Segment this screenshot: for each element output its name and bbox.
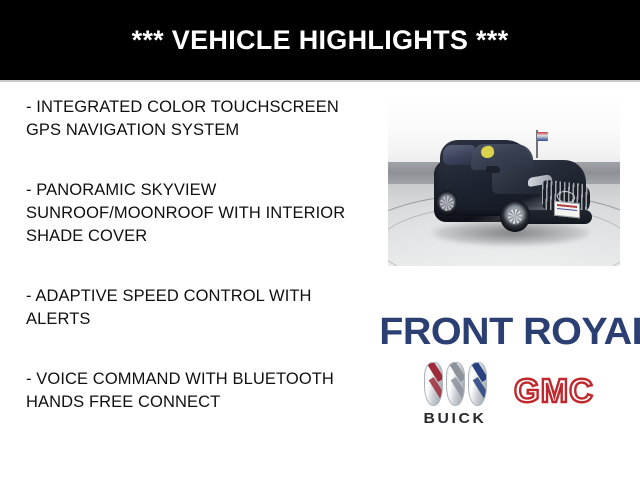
- header-divider: [0, 80, 640, 82]
- vehicle-rear-wheel: [436, 190, 458, 216]
- buick-logo: BUICK: [408, 362, 502, 427]
- header-band: *** VEHICLE HIGHLIGHTS ***: [0, 0, 640, 80]
- highlight-item: - VOICE COMMAND WITH BLUETOOTH HANDS FRE…: [26, 368, 366, 414]
- buick-trishield-icon: [408, 362, 502, 406]
- dealer-logo: FRONT ROYAL BUICK GMC: [384, 312, 624, 430]
- vehicle-front-wheel: [500, 200, 530, 232]
- buick-shield-silver: [446, 362, 465, 406]
- vehicle-windshield: [470, 144, 536, 170]
- vehicle-photo: [388, 96, 620, 266]
- vehicle-suv: [426, 128, 596, 238]
- buick-wordmark: BUICK: [406, 410, 505, 427]
- dealer-wordmark: FRONT ROYAL: [379, 312, 629, 352]
- license-plate: [554, 201, 580, 219]
- gmc-wordmark: GMC: [492, 372, 616, 410]
- brand-row: BUICK GMC: [384, 362, 624, 430]
- vehicle-highlights-slide: *** VEHICLE HIGHLIGHTS *** - INTEGRATED …: [0, 0, 640, 480]
- page-title: *** VEHICLE HIGHLIGHTS ***: [0, 0, 640, 80]
- buick-shield-blue: [468, 362, 487, 406]
- highlight-item: - PANORAMIC SKYVIEW SUNROOF/MOONROOF WIT…: [26, 179, 366, 248]
- highlights-list: - INTEGRATED COLOR TOUCHSCREEN GPS NAVIG…: [26, 96, 366, 414]
- highlight-item: - INTEGRATED COLOR TOUCHSCREEN GPS NAVIG…: [26, 96, 366, 142]
- vehicle-side-mirror: [486, 166, 500, 173]
- buick-shield-red: [424, 362, 443, 406]
- us-flag-icon: [537, 132, 548, 141]
- highlight-item: - ADAPTIVE SPEED CONTROL WITH ALERTS: [26, 285, 366, 331]
